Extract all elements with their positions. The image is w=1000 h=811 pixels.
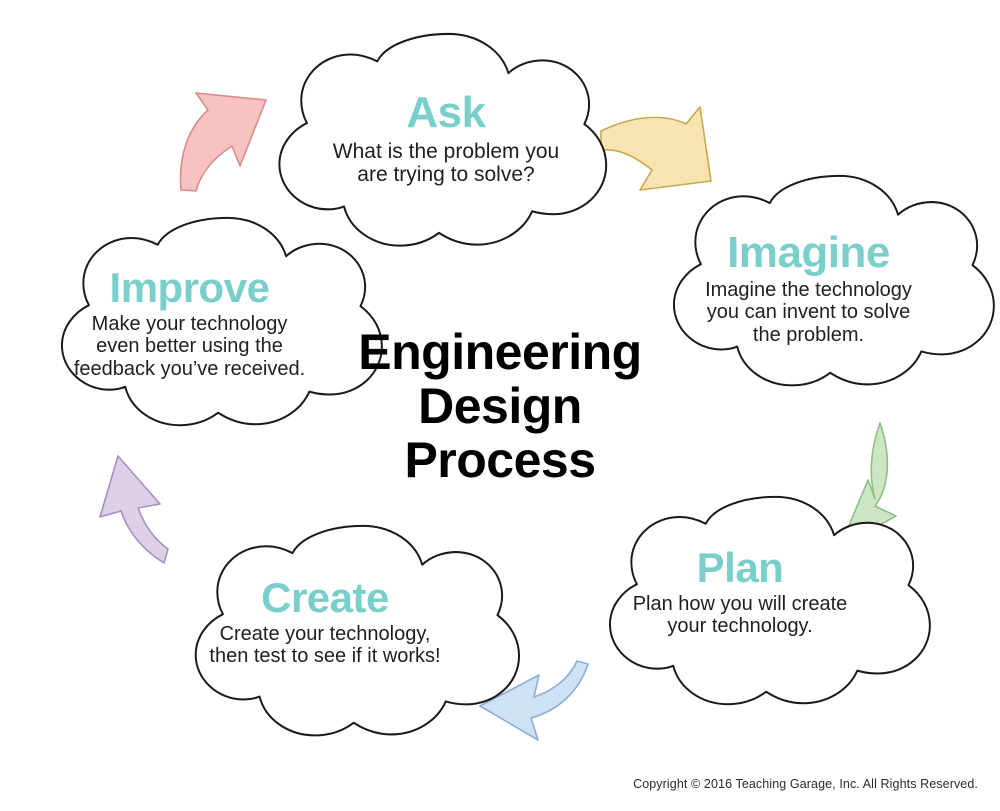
node-ask-desc-line1: What is the problem you xyxy=(333,140,559,163)
node-create-desc: Create your technology, then test to see… xyxy=(175,623,475,668)
arrow-create-to-improve xyxy=(100,456,168,563)
node-improve-text: Improve Make your technology even better… xyxy=(42,268,337,380)
node-imagine-text: Imagine Imagine the technology you can i… xyxy=(656,232,961,346)
node-plan-text: Plan Plan how you will create your techn… xyxy=(590,548,890,638)
node-plan-desc: Plan how you will create your technology… xyxy=(590,593,890,638)
page-title-line3: Process xyxy=(330,433,670,487)
node-create-desc-line2: then test to see if it works! xyxy=(209,645,440,667)
node-improve-desc-line3: feedback you’ve received. xyxy=(74,358,305,380)
page-title-line1: Engineering xyxy=(330,325,670,379)
node-plan-desc-line1: Plan how you will create xyxy=(633,593,848,615)
node-imagine-desc: Imagine the technology you can invent to… xyxy=(656,279,961,346)
node-improve-desc: Make your technology even better using t… xyxy=(42,313,337,380)
node-ask-desc: What is the problem you are trying to so… xyxy=(296,140,596,187)
node-create-text: Create Create your technology, then test… xyxy=(175,578,475,668)
node-create-desc-line1: Create your technology, xyxy=(220,623,431,645)
node-imagine-desc-line2: you can invent to solve xyxy=(707,301,910,323)
node-ask-desc-line2: are trying to solve? xyxy=(357,163,534,186)
page-title-line2: Design xyxy=(330,379,670,433)
node-imagine-desc-line3: the problem. xyxy=(753,324,864,346)
node-improve-desc-line1: Make your technology xyxy=(92,313,288,335)
node-create-title: Create xyxy=(175,578,475,618)
node-plan-title: Plan xyxy=(590,548,890,588)
arrow-ask-to-imagine xyxy=(601,107,711,190)
node-improve-title: Improve xyxy=(42,268,337,308)
page-title: Engineering Design Process xyxy=(330,325,670,487)
node-improve-desc-line2: even better using the xyxy=(96,335,283,357)
node-ask-text: Ask What is the problem you are trying t… xyxy=(296,92,596,187)
node-plan-desc-line2: your technology. xyxy=(667,615,812,637)
copyright-notice: Copyright © 2016 Teaching Garage, Inc. A… xyxy=(633,777,978,791)
node-imagine-title: Imagine xyxy=(656,232,961,274)
engineering-design-process-diagram: Ask What is the problem you are trying t… xyxy=(0,0,1000,811)
node-ask-title: Ask xyxy=(296,92,596,134)
node-imagine-desc-line1: Imagine the technology xyxy=(705,279,912,301)
arrow-improve-to-ask xyxy=(180,93,266,191)
